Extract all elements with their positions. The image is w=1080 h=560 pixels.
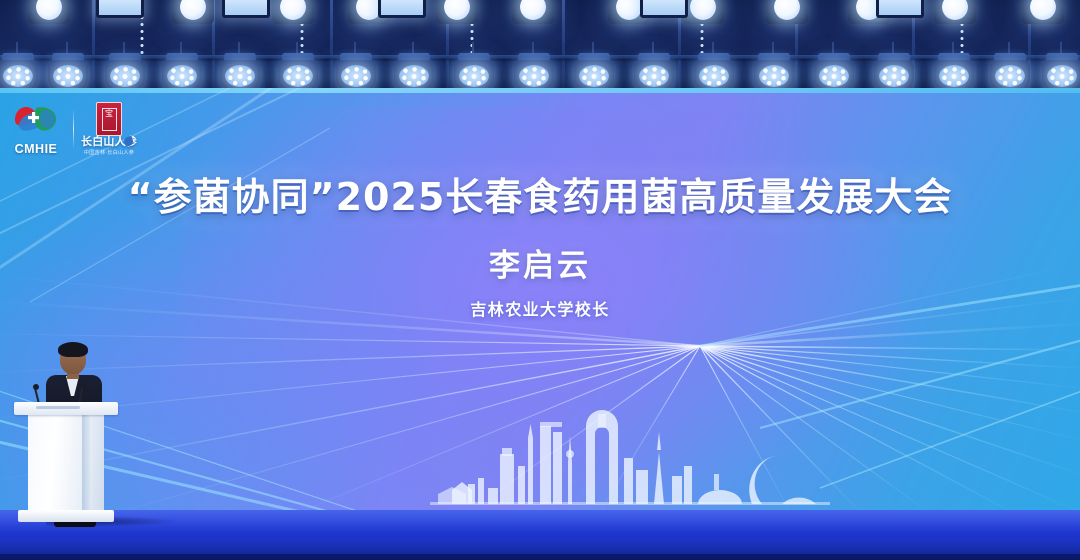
red-seal-stamp-icon: 宝 xyxy=(96,102,122,136)
truss-post xyxy=(92,0,95,92)
spotlight-fixture xyxy=(512,0,554,24)
lectern-body xyxy=(28,414,104,512)
lectern-body-edge xyxy=(82,414,90,512)
led-par-can xyxy=(218,56,262,92)
stage-front-edge xyxy=(0,554,1080,560)
led-video-wall: CMHIE 宝 长白山人参 中国吉林·长白山人参 “参菌协同”2025长春食药用… xyxy=(0,88,1080,512)
led-par-can xyxy=(692,56,736,92)
led-par-can xyxy=(752,56,796,92)
seal-glyph: 宝 xyxy=(102,108,117,131)
spotlight-fixture xyxy=(28,0,70,24)
blinder-panel xyxy=(96,0,144,18)
lectern-top xyxy=(14,402,118,415)
changbai-ginseng-logo: 宝 长白山人参 中国吉林·长白山人参 xyxy=(83,102,135,156)
lectern xyxy=(14,402,118,524)
microphone-icon xyxy=(33,384,39,390)
lectern-top-slot xyxy=(36,406,80,409)
led-par-can xyxy=(103,56,147,92)
led-par-can xyxy=(334,56,378,92)
spotlight-fixture xyxy=(436,0,478,24)
event-title: “参菌协同”2025长春食药用菌高质量发展大会 xyxy=(0,166,1080,221)
lectern-base xyxy=(18,510,114,522)
spotlight-fixture xyxy=(934,0,976,24)
blinder-panel xyxy=(222,0,270,18)
speaker-role: 吉林农业大学校长 xyxy=(0,296,1080,320)
city-skyline-graphic xyxy=(0,392,1080,512)
led-par-can xyxy=(812,56,856,92)
cmhie-wordmark: CMHIE xyxy=(8,143,64,156)
blinder-panel xyxy=(876,0,924,18)
microphone-icon xyxy=(80,382,86,388)
spotlight-fixture xyxy=(172,0,214,24)
cmhie-logo: CMHIE xyxy=(8,102,64,156)
led-par-can xyxy=(160,56,204,92)
led-par-can xyxy=(632,56,676,92)
stage-lighting-truss xyxy=(0,0,1080,92)
spotlight-fixture xyxy=(766,0,808,24)
led-par-can xyxy=(872,56,916,92)
blinder-panel xyxy=(640,0,688,18)
led-par-can xyxy=(988,56,1032,92)
spotlight-fixture xyxy=(1022,0,1064,24)
led-par-can xyxy=(452,56,496,92)
spotlight-fixture xyxy=(272,0,314,24)
ginseng-subtext: 中国吉林·长白山人参 xyxy=(80,149,138,156)
led-par-can xyxy=(932,56,976,92)
led-par-can xyxy=(392,56,436,92)
led-par-can xyxy=(276,56,320,92)
spotlight-fixture xyxy=(682,0,724,24)
logo-divider xyxy=(73,109,74,149)
conference-stage-photo: CMHIE 宝 长白山人参 中国吉林·长白山人参 “参菌协同”2025长春食药用… xyxy=(0,0,1080,560)
truss-post xyxy=(562,0,565,92)
presenter-hair xyxy=(58,342,88,357)
cmhie-swoosh-logo-icon xyxy=(12,102,60,136)
led-par-can xyxy=(1040,56,1080,92)
truss-post xyxy=(330,0,333,92)
led-par-can xyxy=(0,56,40,92)
led-par-can xyxy=(46,56,90,92)
led-par-can xyxy=(572,56,616,92)
blinder-panel xyxy=(378,0,426,18)
led-par-can xyxy=(512,56,556,92)
speaker-name: 李启云 xyxy=(0,240,1080,285)
event-logo-group: CMHIE 宝 长白山人参 中国吉林·长白山人参 xyxy=(8,102,135,156)
